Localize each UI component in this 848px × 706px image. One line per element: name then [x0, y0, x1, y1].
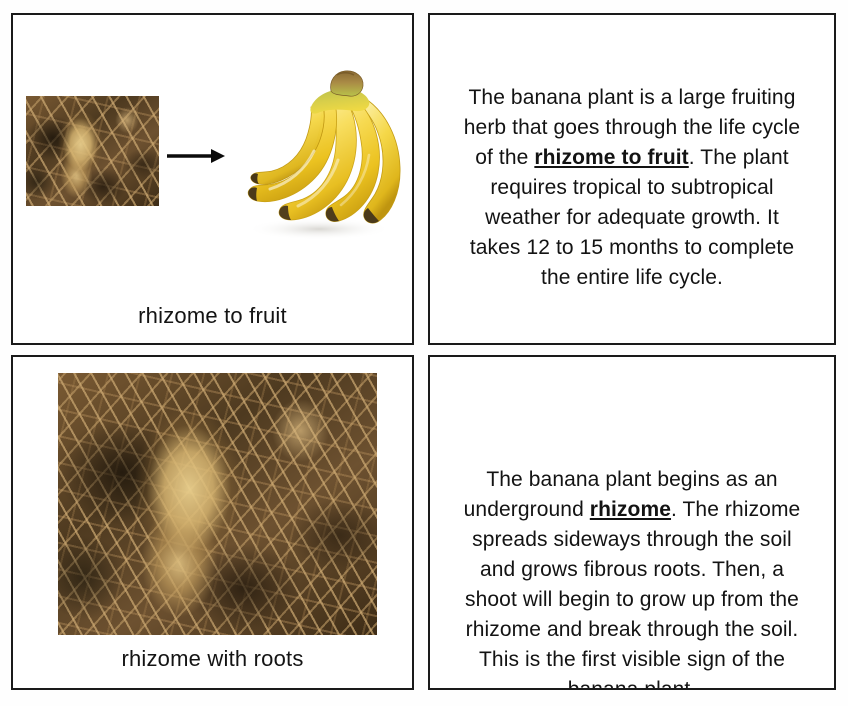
- rhizome-with-roots-photo: [58, 373, 377, 635]
- card-paragraph: The banana plant is a large fruiting her…: [458, 83, 806, 293]
- right-arrow-icon: [167, 147, 225, 165]
- card-rhizome-to-fruit-picture[interactable]: rhizome to fruit: [11, 13, 414, 345]
- paragraph-text: . The rhizome spreads sideways through t…: [465, 498, 800, 690]
- banana-bunch-photo: [223, 63, 408, 243]
- card-rhizome-text[interactable]: The banana plant begins as an undergroun…: [428, 355, 836, 690]
- picture-card-content: rhizome with roots: [13, 357, 412, 688]
- picture-card-content: rhizome to fruit: [13, 15, 412, 343]
- card-rhizome-with-roots-picture[interactable]: rhizome with roots: [11, 355, 414, 690]
- cards-board: rhizome to fruit The banana plant is a l…: [0, 0, 848, 706]
- card-caption: rhizome with roots: [13, 646, 412, 672]
- key-term: rhizome to fruit: [534, 146, 688, 169]
- card-caption: rhizome to fruit: [13, 303, 412, 329]
- key-term: rhizome: [590, 498, 671, 521]
- rhizome-in-soil-photo: [26, 96, 159, 206]
- card-rhizome-to-fruit-text[interactable]: The banana plant is a large fruiting her…: [428, 13, 836, 345]
- card-paragraph: The banana plant begins as an undergroun…: [458, 465, 806, 690]
